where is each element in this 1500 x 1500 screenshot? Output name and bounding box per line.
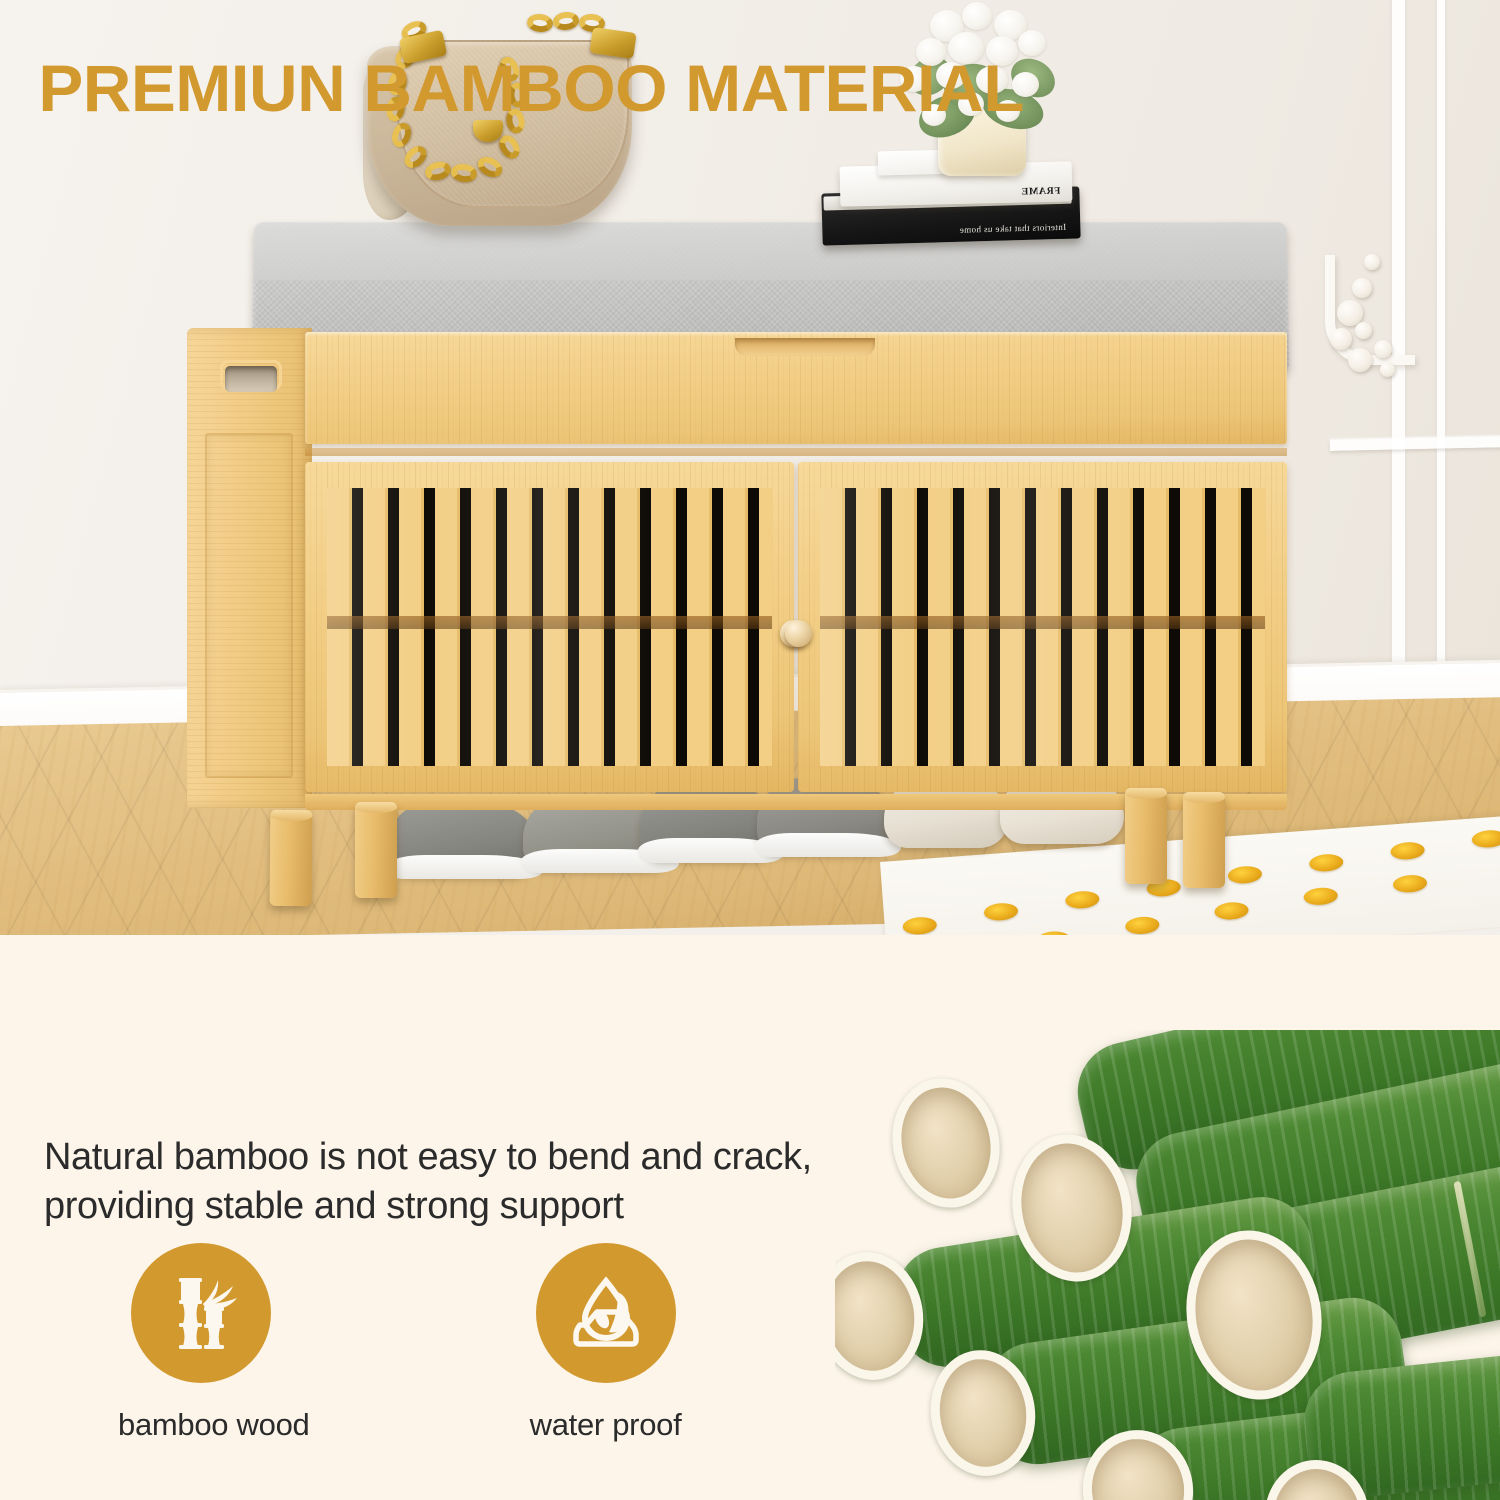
door-slat-opening-right <box>820 488 1265 766</box>
panel-gap <box>305 448 1287 456</box>
bench-leg-back-right <box>1125 788 1167 884</box>
product-photo: Interiors that take us home FRAME <box>0 0 1500 935</box>
side-panel-inset <box>205 433 293 778</box>
lift-top-panel[interactable] <box>305 332 1287 444</box>
moulding-ornament <box>1348 348 1372 372</box>
feature-label: bamboo wood <box>118 1407 283 1443</box>
moulding-ornament <box>1330 328 1352 350</box>
moulding-ornament <box>1380 362 1395 377</box>
cabinet-door-right[interactable] <box>798 462 1287 792</box>
feature-badge <box>536 1243 676 1383</box>
moulding-ornament <box>1364 254 1380 270</box>
bamboo-culms-photo <box>835 1030 1500 1500</box>
bench-front <box>305 328 1287 808</box>
door-knob-right[interactable] <box>785 620 812 647</box>
bamboo-culm-opening <box>881 1068 1012 1217</box>
wall-moulding-vertical <box>1392 0 1405 750</box>
bench-side-panel <box>187 328 312 808</box>
wall-moulding-vertical-2 <box>1437 0 1445 750</box>
moulding-ornament <box>1352 278 1372 298</box>
feature-bamboo-wood: bamboo wood <box>118 1243 283 1443</box>
bamboo-stalk-icon <box>158 1270 244 1356</box>
moulding-ornament <box>1374 340 1392 358</box>
slat-highlight-right <box>820 488 1265 766</box>
subcopy-line-2: providing stable and strong support <box>44 1182 812 1231</box>
door-slat-opening-left <box>327 488 772 766</box>
water-drop-icon <box>561 1268 651 1358</box>
moulding-ornament <box>1355 322 1372 339</box>
feature-badge <box>131 1243 271 1383</box>
finger-pull-notch[interactable] <box>735 338 875 356</box>
side-carry-handle[interactable] <box>225 366 277 392</box>
feature-water-proof: water proof <box>523 1243 688 1443</box>
handbag-chain-link <box>526 13 554 34</box>
panel-subcopy: Natural bamboo is not easy to bend and c… <box>44 1133 812 1230</box>
book-black-title: Interiors that take us home <box>959 222 1066 235</box>
storage-bench[interactable] <box>165 210 1290 850</box>
bench-leg-front-left <box>270 810 313 906</box>
book-white-title: FRAME <box>1021 186 1060 198</box>
cabinet-door-left[interactable] <box>305 462 794 792</box>
panel-headline: PREMIUN BAMBOO MATERIAL <box>38 50 1024 126</box>
bench-leg-back-left <box>355 802 397 898</box>
handbag-chain-link <box>552 11 580 32</box>
subcopy-line-1: Natural bamboo is not easy to bend and c… <box>44 1133 812 1182</box>
bench-carcass <box>187 328 1287 808</box>
slat-highlight-left <box>327 488 772 766</box>
feature-list: bamboo wood water proof <box>118 1243 688 1443</box>
feature-label: water proof <box>523 1407 688 1443</box>
bench-leg-front-right <box>1183 792 1225 888</box>
cabinet-doors <box>305 462 1287 792</box>
